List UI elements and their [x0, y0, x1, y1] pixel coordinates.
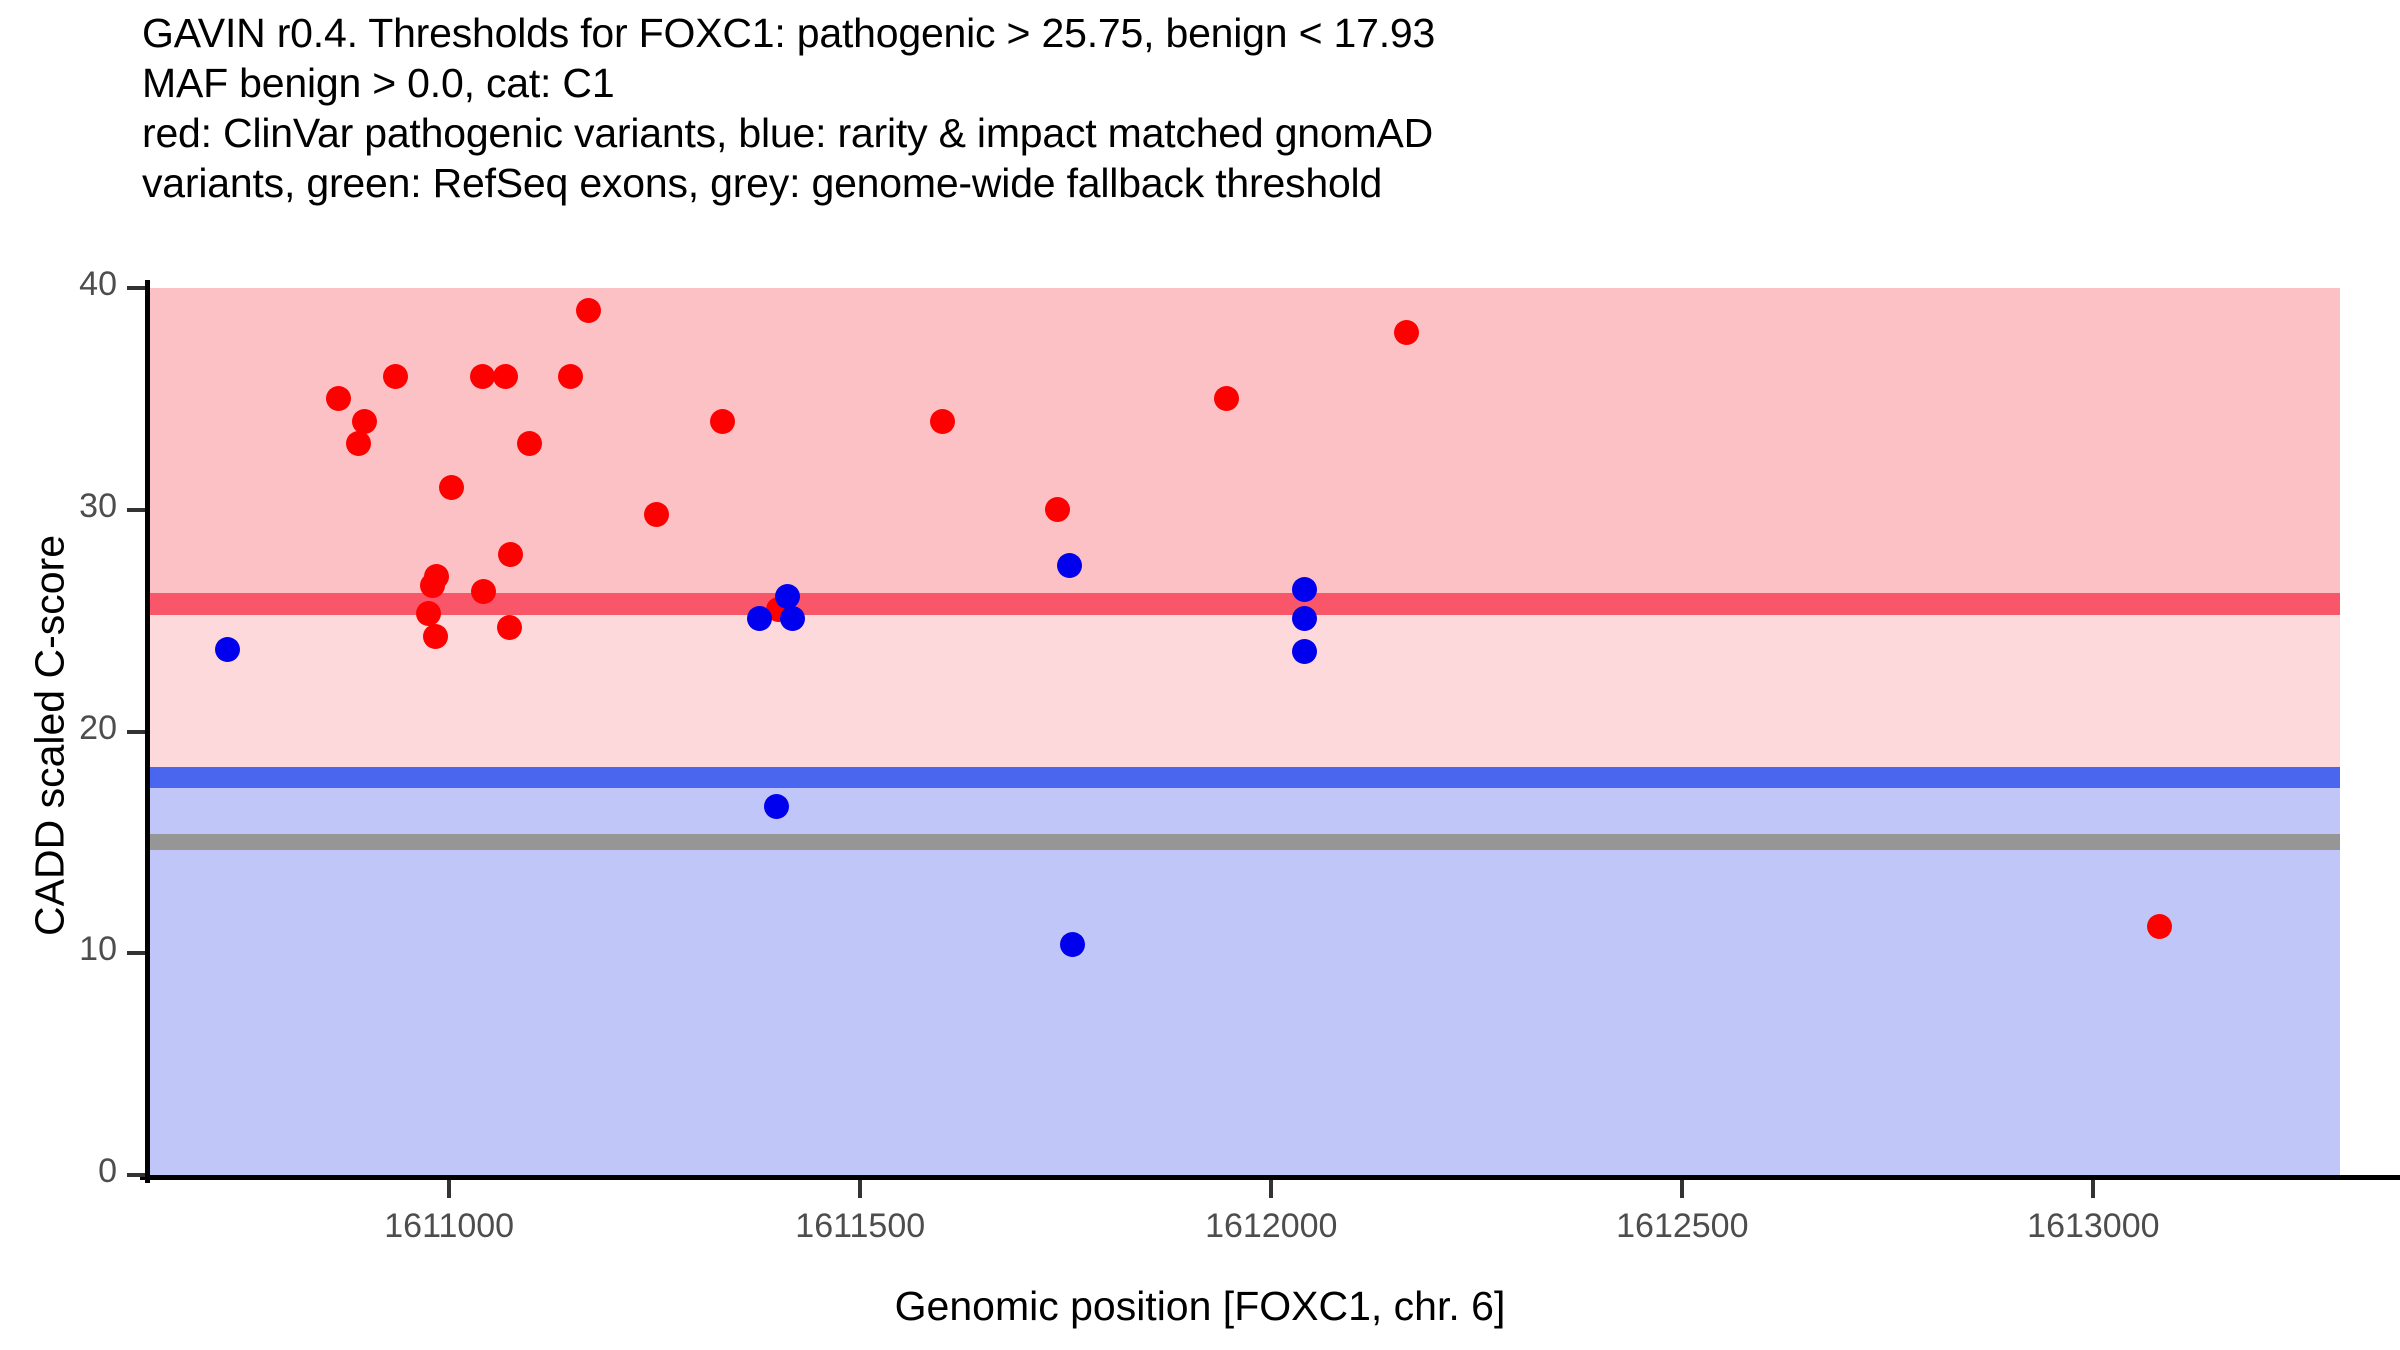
- chart-root: GAVIN r0.4. Thresholds for FOXC1: pathog…: [0, 0, 2400, 1350]
- data-point: [517, 431, 542, 456]
- data-point: [497, 615, 522, 640]
- x-tick-mark: [858, 1180, 862, 1198]
- intermediate-band: [145, 604, 2340, 777]
- x-tick-label: 1612000: [1121, 1207, 1421, 1246]
- y-tick-mark: [127, 508, 145, 512]
- data-point: [1057, 553, 1082, 578]
- benign-threshold-line: [145, 767, 2340, 788]
- data-point: [493, 364, 518, 389]
- data-point: [420, 573, 445, 598]
- data-point: [930, 409, 955, 434]
- data-point: [2147, 914, 2172, 939]
- plot-area: 010203040 161100016115001612000161250016…: [0, 0, 2400, 1350]
- x-tick-mark: [1269, 1180, 1273, 1198]
- y-axis-line: [145, 280, 150, 1183]
- data-point: [1292, 606, 1317, 631]
- fallback-threshold-line: [145, 834, 2340, 850]
- y-tick-mark: [127, 951, 145, 955]
- data-point: [498, 542, 523, 567]
- data-point: [1292, 577, 1317, 602]
- data-point: [215, 637, 240, 662]
- x-tick-mark: [447, 1180, 451, 1198]
- data-point: [710, 409, 735, 434]
- x-tick-label: 1611500: [710, 1207, 1010, 1246]
- y-tick-mark: [127, 286, 145, 290]
- x-tick-label: 1613000: [1943, 1207, 2243, 1246]
- data-point: [352, 409, 377, 434]
- data-point: [644, 502, 669, 527]
- plot-panel: [145, 288, 2340, 1175]
- data-point: [1060, 932, 1085, 957]
- y-tick-mark: [127, 1173, 145, 1177]
- y-axis-title: CADD scaled C-score: [27, 286, 74, 1186]
- x-tick-mark: [1680, 1180, 1684, 1198]
- data-point: [1214, 386, 1239, 411]
- x-tick-label: 1611000: [299, 1207, 599, 1246]
- x-tick-label: 1612500: [1532, 1207, 1832, 1246]
- data-point: [775, 584, 800, 609]
- data-point: [1292, 639, 1317, 664]
- x-tick-mark: [2091, 1180, 2095, 1198]
- pathogenic-band: [145, 288, 2340, 604]
- data-point: [346, 431, 371, 456]
- data-point: [326, 386, 351, 411]
- data-point: [423, 624, 448, 649]
- x-axis-title: Genomic position [FOXC1, chr. 6]: [0, 1283, 2400, 1330]
- data-point: [470, 364, 495, 389]
- y-tick-mark: [127, 730, 145, 734]
- data-point: [576, 298, 601, 323]
